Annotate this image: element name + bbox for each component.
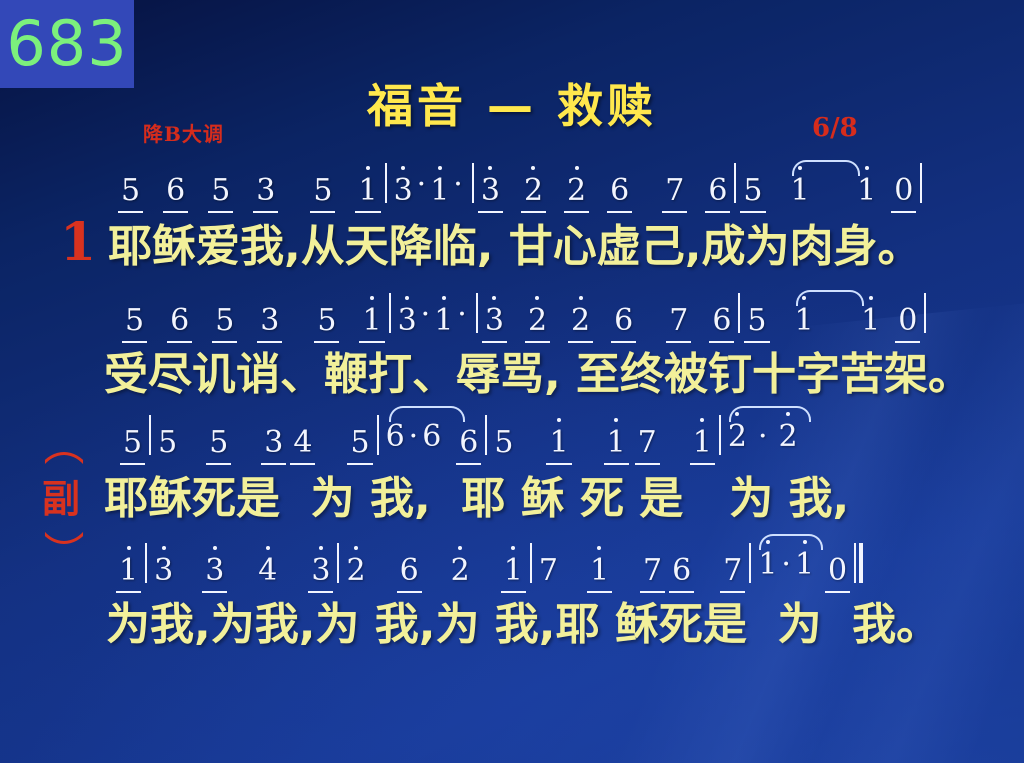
note: 5 xyxy=(124,306,145,336)
music-system-1: 5 6 5 3 5 1 3· 1· 3 2 2 6 7 6 5 1 1 0 xyxy=(0,160,1024,206)
note: 2 xyxy=(345,556,366,586)
note: 1 xyxy=(589,556,610,586)
note: 5 xyxy=(746,306,767,336)
note: 3 xyxy=(393,176,414,206)
note: 3 xyxy=(259,306,280,336)
note: 1 xyxy=(429,176,450,206)
music-system-2: 5 6 5 3 5 1 3· 1· 3 2 2 6 7 6 5 1 1 0 xyxy=(0,290,1024,336)
chorus-label: 副 xyxy=(42,468,80,523)
note: 6 xyxy=(165,176,186,206)
note: 1 xyxy=(357,176,378,206)
hymn-slide: 683 福音 — 救赎 降B大调 6/8 5 6 5 3 5 1 3· 1· 3… xyxy=(0,0,1024,763)
barline xyxy=(389,293,391,333)
notation-line-4: 1 3 3 4 3 2 6 2 1 7 1 7 6 7 1·1 0 xyxy=(0,540,1024,586)
lyric-line-2: 受尽讥诮、鞭打、辱骂, 至终被钉十字苦架。 xyxy=(104,338,972,402)
note: 6 xyxy=(458,428,479,458)
notation-line-1: 5 6 5 3 5 1 3· 1· 3 2 2 6 7 6 5 1 1 0 xyxy=(0,160,1024,206)
note: 6 xyxy=(671,556,692,586)
note: 5 xyxy=(316,306,337,336)
note: 1 xyxy=(856,176,877,206)
note: 4 xyxy=(292,428,313,458)
note: 1 xyxy=(503,556,524,586)
barline xyxy=(476,293,478,333)
note: 1 xyxy=(606,428,627,458)
barline xyxy=(145,543,147,583)
dot: · xyxy=(778,550,794,586)
note: 6 xyxy=(613,306,634,336)
lyric-line-3: 耶稣死是 为 我, 耶 稣 死 是 为 我, xyxy=(104,462,849,526)
note: 1 xyxy=(692,428,713,458)
barline xyxy=(485,415,487,455)
note: 1 xyxy=(361,306,382,336)
notation-line-3: 5 5 5 3 4 5 6·6 6 5 1 1 7 1 2·2 xyxy=(0,412,1024,458)
note: 1 xyxy=(118,556,139,586)
dot: · xyxy=(748,422,778,458)
dot: · xyxy=(454,300,470,336)
note: 1 xyxy=(433,306,454,336)
barline xyxy=(530,543,532,583)
barline xyxy=(149,415,151,455)
note: 3 xyxy=(153,556,174,586)
music-system-4: 1 3 3 4 3 2 6 2 1 7 1 7 6 7 1·1 0 xyxy=(0,540,1024,586)
note: 0 xyxy=(893,176,914,206)
note: 0 xyxy=(897,306,918,336)
barline xyxy=(920,163,922,203)
note: 6 xyxy=(707,176,728,206)
note: 2 xyxy=(450,556,471,586)
lyric-line-4: 为我,为我,为 我,为 我,耶 稣死是 为 我。 xyxy=(106,588,940,652)
key-signature: 降B大调 xyxy=(143,118,224,147)
dot: · xyxy=(450,170,466,206)
barline xyxy=(749,543,751,583)
note: 3 xyxy=(204,556,225,586)
note: 5 xyxy=(157,428,178,458)
verse-number: 1 xyxy=(60,212,96,273)
dot: · xyxy=(414,170,430,206)
barline xyxy=(385,163,387,203)
note: 5 xyxy=(742,176,763,206)
note: 0 xyxy=(827,556,848,586)
note: 4 xyxy=(257,556,278,586)
dot: · xyxy=(418,300,434,336)
note: 2 xyxy=(727,422,748,452)
lyric-line-1: 耶稣爱我,从天降临, 甘心虚己,成为肉身。 xyxy=(108,210,921,274)
note: 5 xyxy=(312,176,333,206)
note: 3 xyxy=(484,306,505,336)
note: 5 xyxy=(120,176,141,206)
barline xyxy=(738,293,740,333)
note: 2 xyxy=(778,422,799,452)
note: 5 xyxy=(214,306,235,336)
note: 1 xyxy=(548,428,569,458)
note: 6 xyxy=(385,422,406,452)
final-double-barline xyxy=(854,543,863,583)
note: 5 xyxy=(349,428,370,458)
barline xyxy=(924,293,926,333)
note: 1 xyxy=(860,306,881,336)
note: 7 xyxy=(642,556,663,586)
note: 2 xyxy=(527,306,548,336)
note: 7 xyxy=(538,556,559,586)
note: 6 xyxy=(169,306,190,336)
time-signature: 6/8 xyxy=(812,113,858,143)
barline xyxy=(337,543,339,583)
note: 3 xyxy=(310,556,331,586)
note: 5 xyxy=(208,428,229,458)
note: 6 xyxy=(421,422,442,452)
barline xyxy=(377,415,379,455)
note: 3 xyxy=(263,428,284,458)
note: 3 xyxy=(397,306,418,336)
note: 7 xyxy=(668,306,689,336)
barline xyxy=(734,163,736,203)
music-system-3: 5 5 5 3 4 5 6·6 6 5 1 1 7 1 2·2 xyxy=(0,412,1024,458)
dot: · xyxy=(406,422,422,458)
note: 6 xyxy=(399,556,420,586)
note: 3 xyxy=(255,176,276,206)
note: 7 xyxy=(664,176,685,206)
note: 7 xyxy=(722,556,743,586)
note: 6 xyxy=(711,306,732,336)
note: 5 xyxy=(210,176,231,206)
note: 7 xyxy=(637,428,658,458)
note: 6 xyxy=(609,176,630,206)
note: 1 xyxy=(757,550,778,580)
chorus-marker: 副 xyxy=(30,452,92,538)
note: 5 xyxy=(493,428,514,458)
hymn-number: 683 xyxy=(6,13,127,75)
note: 5 xyxy=(122,428,143,458)
note: 1 xyxy=(794,550,815,580)
note: 1 xyxy=(794,306,815,336)
barline xyxy=(472,163,474,203)
note: 2 xyxy=(566,176,587,206)
notation-line-2: 5 6 5 3 5 1 3· 1· 3 2 2 6 7 6 5 1 1 0 xyxy=(0,290,1024,336)
note: 1 xyxy=(790,176,811,206)
barline xyxy=(719,415,721,455)
note: 3 xyxy=(480,176,501,206)
note: 2 xyxy=(570,306,591,336)
note: 2 xyxy=(523,176,544,206)
